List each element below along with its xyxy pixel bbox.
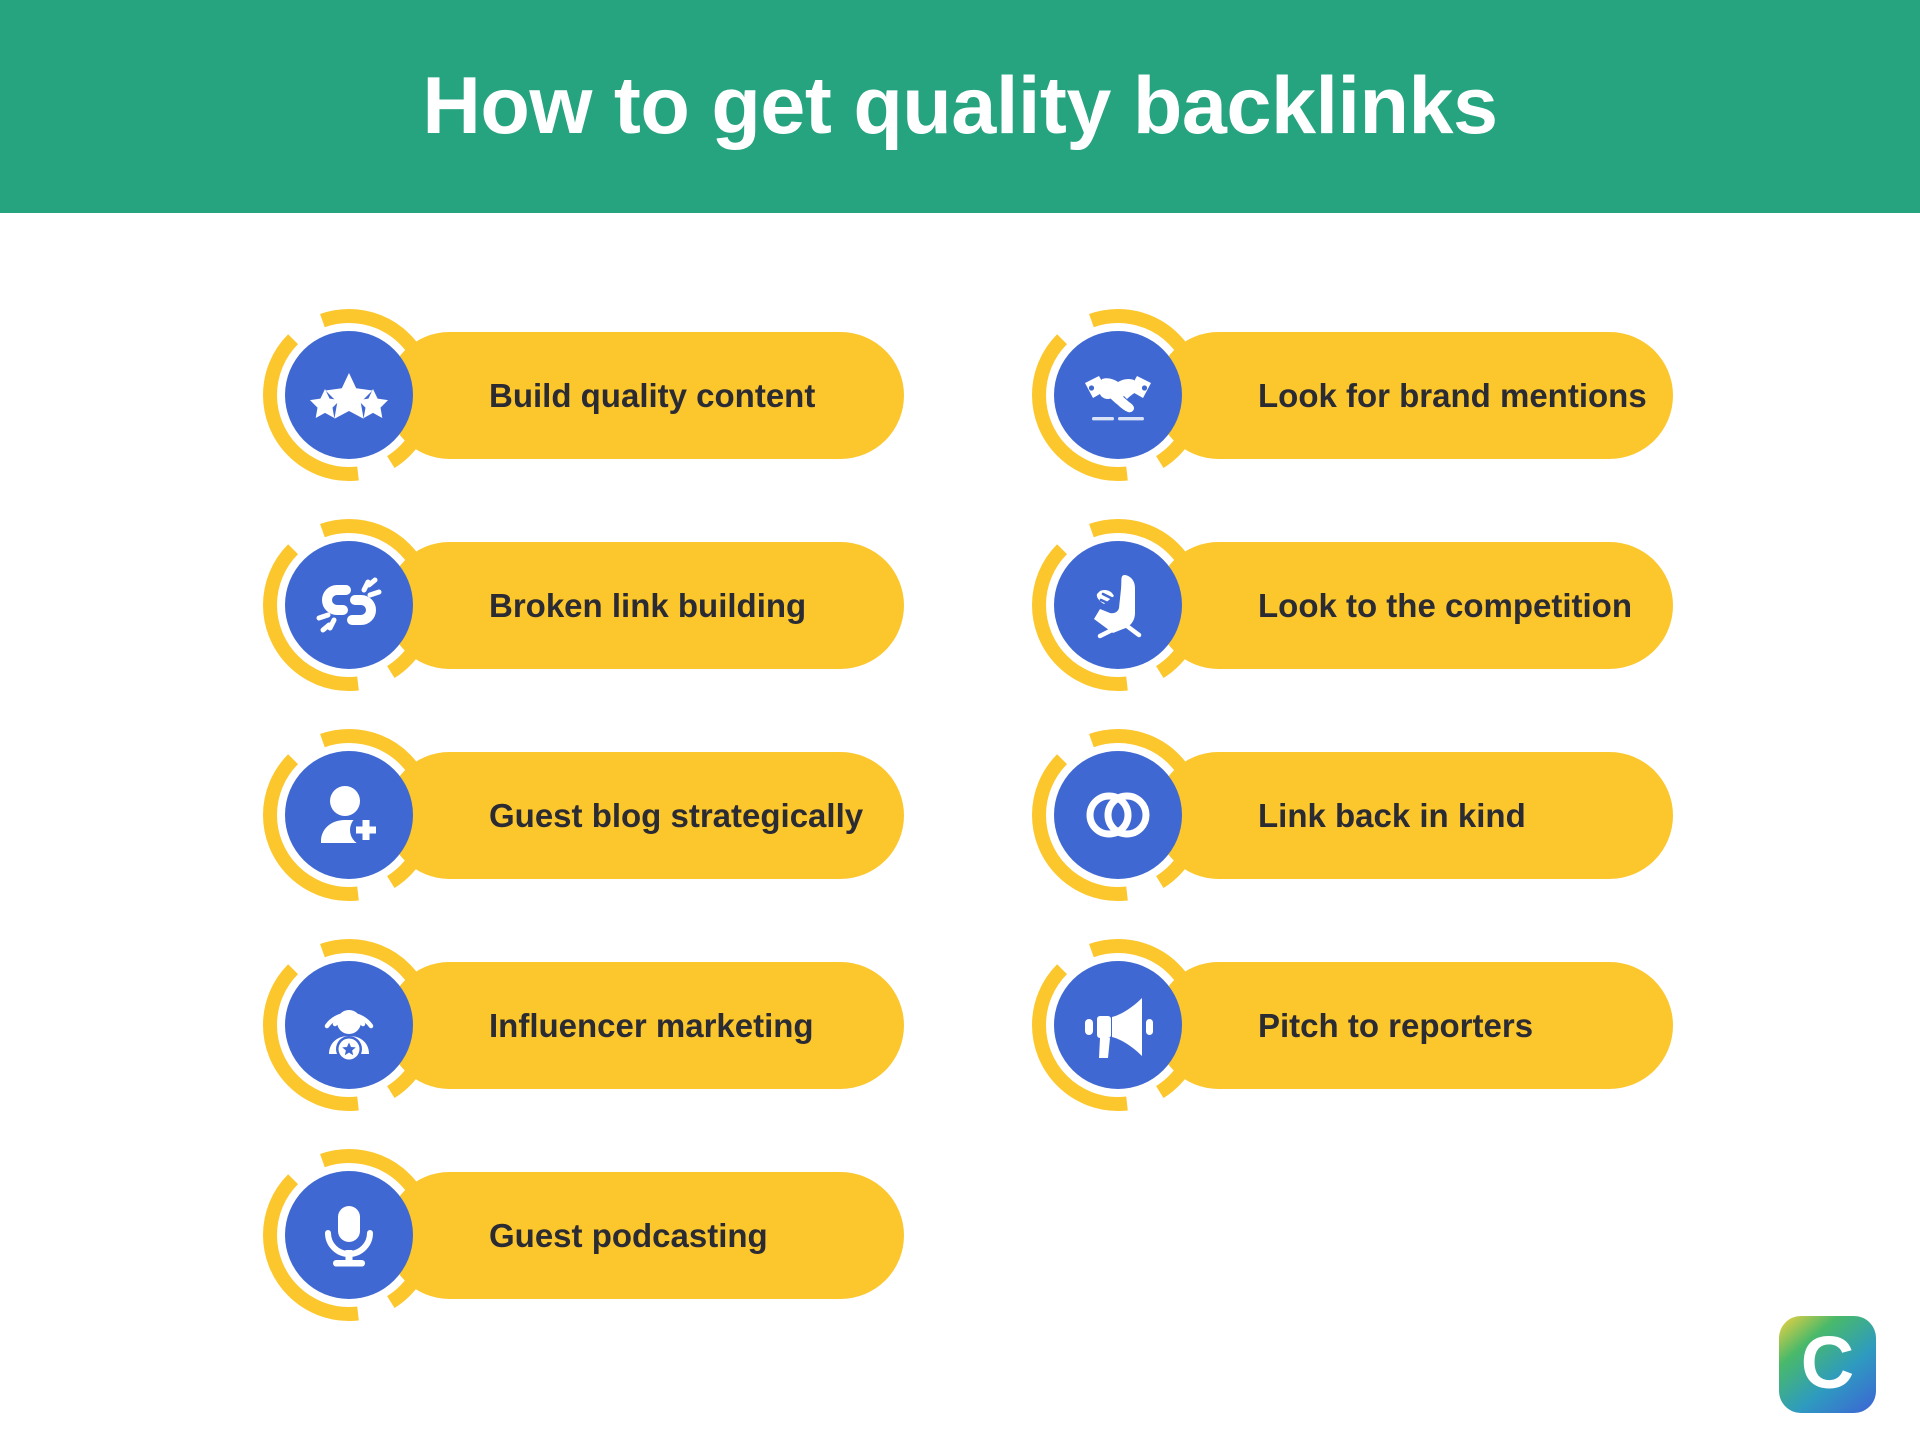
item-badge <box>1028 935 1208 1115</box>
list-item[interactable]: Link back in kind <box>1028 725 1673 905</box>
interlocking-rings-icon <box>1082 783 1154 847</box>
badge-disc <box>285 541 413 669</box>
item-pill[interactable]: Look to the competition <box>1155 542 1673 669</box>
list-item[interactable]: Guest podcasting <box>259 1145 904 1325</box>
item-badge <box>259 725 439 905</box>
item-label: Guest blog strategically <box>489 799 863 832</box>
page-title: How to get quality backlinks <box>422 66 1497 147</box>
broken-link-icon <box>312 568 386 642</box>
left-column: Build quality content <box>259 213 904 1325</box>
item-label: Look for brand mentions <box>1258 379 1647 412</box>
badge-disc <box>1054 961 1182 1089</box>
list-item[interactable]: Guest blog strategically <box>259 725 904 905</box>
item-label: Pitch to reporters <box>1258 1009 1533 1042</box>
list-item[interactable]: Pitch to reporters <box>1028 935 1673 1115</box>
list-item[interactable]: Influencer marketing <box>259 935 904 1115</box>
item-badge <box>1028 725 1208 905</box>
influencer-broadcast-icon <box>310 986 388 1064</box>
item-label: Look to the competition <box>1258 589 1632 622</box>
item-columns: Build quality content <box>0 213 1920 1325</box>
item-label: Broken link building <box>489 589 806 622</box>
microphone-icon <box>314 1200 384 1270</box>
page-header: How to get quality backlinks <box>0 0 1920 213</box>
canva-logo: C <box>1779 1316 1876 1413</box>
badge-disc <box>1054 751 1182 879</box>
item-pill[interactable]: Influencer marketing <box>386 962 904 1089</box>
item-badge <box>259 935 439 1115</box>
item-pill[interactable]: Look for brand mentions <box>1155 332 1673 459</box>
canva-logo-letter: C <box>1801 1326 1854 1400</box>
right-column: Look for brand mentions <box>1028 213 1673 1325</box>
badge-disc <box>285 961 413 1089</box>
handshake-icon <box>1080 357 1156 433</box>
item-pill[interactable]: Link back in kind <box>1155 752 1673 879</box>
list-item[interactable]: Build quality content <box>259 305 904 485</box>
infographic-body: Build quality content <box>0 213 1920 1453</box>
item-pill[interactable]: Broken link building <box>386 542 904 669</box>
item-label: Build quality content <box>489 379 815 412</box>
badge-disc <box>1054 541 1182 669</box>
badge-disc <box>1054 331 1182 459</box>
list-item[interactable]: Broken link building <box>259 515 904 695</box>
item-badge <box>259 515 439 695</box>
item-label: Guest podcasting <box>489 1219 768 1252</box>
three-stars-icon <box>310 356 388 434</box>
badge-disc <box>285 751 413 879</box>
arm-wrestle-icon <box>1082 569 1154 641</box>
user-plus-icon <box>313 779 385 851</box>
item-pill[interactable]: Build quality content <box>386 332 904 459</box>
item-badge <box>1028 515 1208 695</box>
list-item[interactable]: Look for brand mentions <box>1028 305 1673 485</box>
item-pill[interactable]: Pitch to reporters <box>1155 962 1673 1089</box>
megaphone-icon <box>1080 992 1156 1058</box>
item-pill[interactable]: Guest podcasting <box>386 1172 904 1299</box>
item-pill[interactable]: Guest blog strategically <box>386 752 904 879</box>
badge-disc <box>285 331 413 459</box>
item-badge <box>259 1145 439 1325</box>
list-item[interactable]: Look to the competition <box>1028 515 1673 695</box>
item-badge <box>259 305 439 485</box>
item-label: Influencer marketing <box>489 1009 814 1042</box>
badge-disc <box>285 1171 413 1299</box>
item-label: Link back in kind <box>1258 799 1526 832</box>
item-badge <box>1028 305 1208 485</box>
